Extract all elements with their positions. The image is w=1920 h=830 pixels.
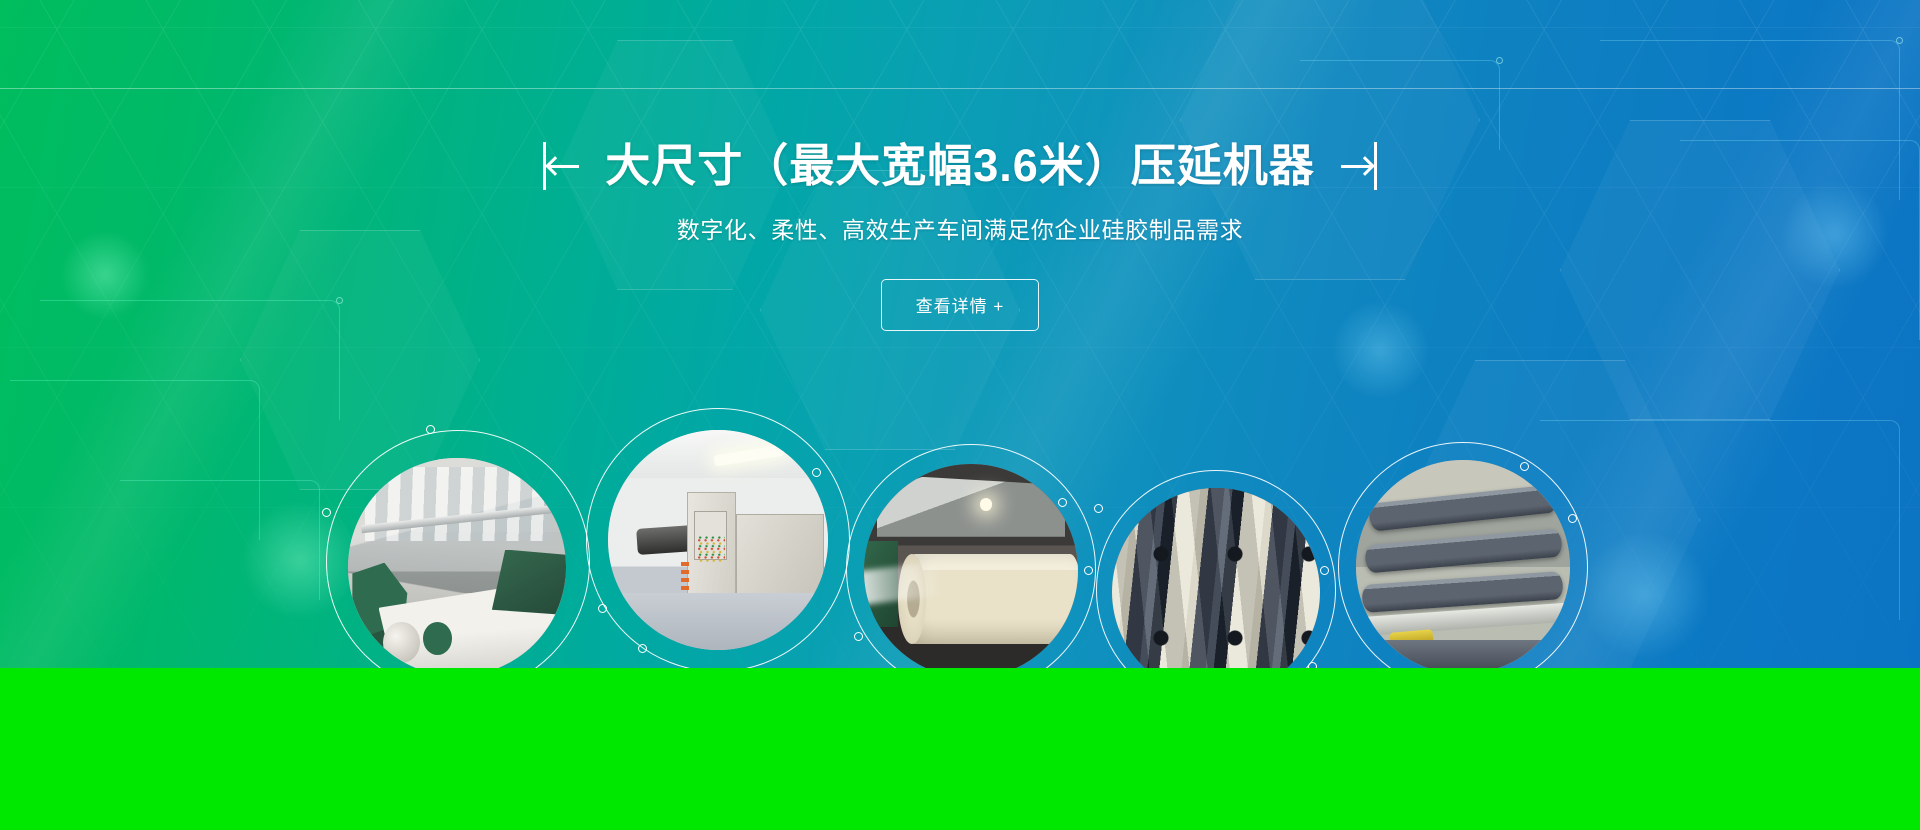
gallery-item-calender-production-line[interactable]	[326, 430, 590, 668]
gallery-photo[interactable]	[348, 458, 566, 668]
headline-block: 大尺寸（最大宽幅3.6米）压延机器 数字化、柔性、高效生产车间满足你企业硅胶制品…	[0, 140, 1920, 331]
orbit-node-left	[1094, 504, 1103, 513]
circuit-node-3	[1496, 57, 1503, 64]
circuit-trace-7	[1300, 60, 1500, 150]
chroma-key-backdrop	[0, 664, 1920, 830]
measure-bracket-left-icon	[543, 142, 583, 190]
measure-bracket-right-icon	[1337, 142, 1377, 190]
horizontal-divider-line	[0, 88, 1920, 89]
orbit-node-right-low	[1084, 566, 1093, 575]
gallery-item-die-cut-silicone-strips[interactable]	[1096, 470, 1336, 668]
page-title: 大尺寸（最大宽幅3.6米）压延机器	[605, 140, 1315, 192]
cta-wrapper: 查看详情 +	[0, 279, 1920, 331]
circuit-node-2	[1896, 37, 1903, 44]
gallery-photo[interactable]	[1112, 488, 1320, 668]
hero-banner: 大尺寸（最大宽幅3.6米）压延机器 数字化、柔性、高效生产车间满足你企业硅胶制品…	[0, 0, 1920, 668]
orbit-node-left	[854, 632, 863, 641]
gallery-item-cleanroom-calender-machine[interactable]	[586, 408, 850, 668]
gallery-item-precision-roller-assembly[interactable]	[1338, 442, 1588, 668]
title-row: 大尺寸（最大宽幅3.6米）压延机器	[543, 140, 1377, 192]
gallery-photo[interactable]	[1356, 460, 1570, 668]
orbit-node-left	[598, 604, 607, 613]
gallery-photo[interactable]	[864, 464, 1078, 668]
view-details-button[interactable]: 查看详情 +	[881, 279, 1040, 331]
orbit-node-top	[426, 425, 435, 434]
orbit-node-right	[1320, 566, 1329, 575]
gallery-item-silicone-sheet-roll[interactable]	[846, 444, 1096, 668]
page-subtitle: 数字化、柔性、高效生产车间满足你企业硅胶制品需求	[0, 211, 1920, 245]
banner-stage: 大尺寸（最大宽幅3.6米）压延机器 数字化、柔性、高效生产车间满足你企业硅胶制品…	[0, 0, 1920, 830]
gallery-photo[interactable]	[608, 430, 828, 650]
gallery-circle-row	[0, 430, 1920, 668]
orbit-node-left	[322, 508, 331, 517]
